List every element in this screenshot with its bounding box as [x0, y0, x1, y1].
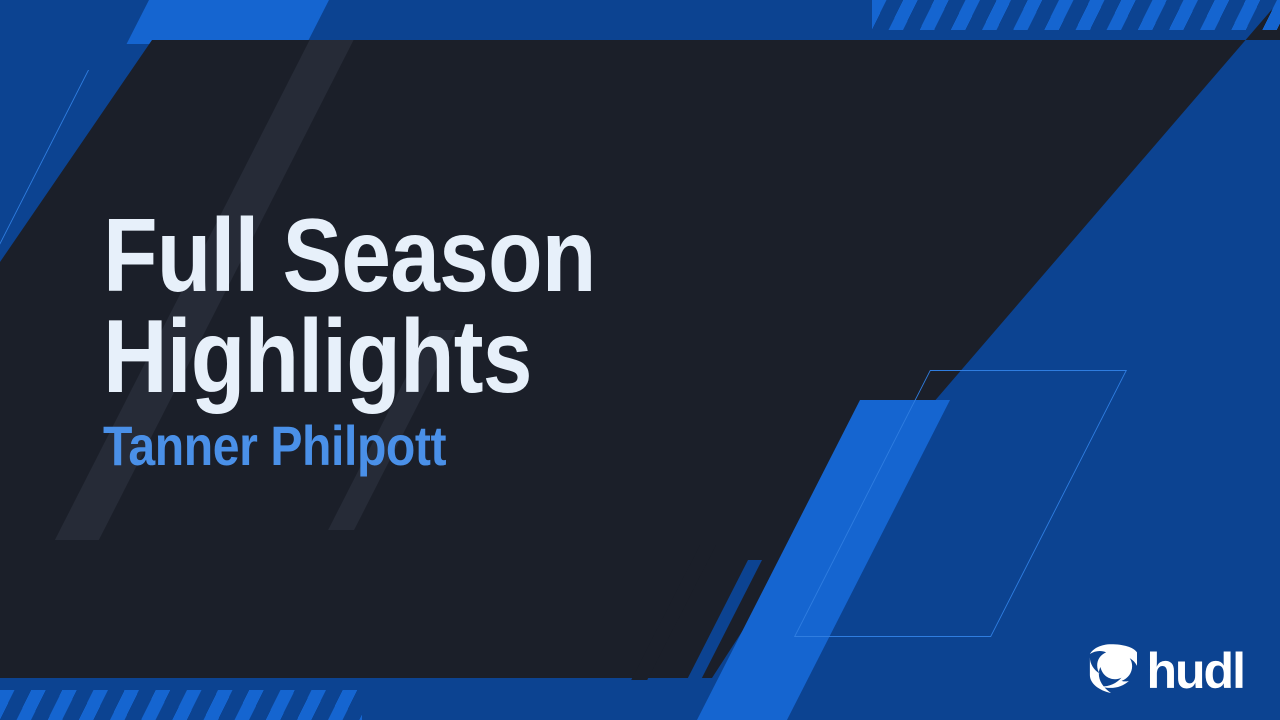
stripe-band-bottom-left	[0, 690, 362, 720]
stripe-band-top-right	[872, 0, 1280, 30]
hudl-triskelion-icon	[1085, 641, 1137, 698]
accent-parallelogram-top-left	[127, 0, 330, 44]
title-text-block: Full Season Highlights Tanner Philpott	[103, 206, 676, 474]
title-line-2: Highlights	[103, 307, 596, 408]
hudl-wordmark: hudl	[1146, 646, 1244, 696]
highlight-title-card: Full Season Highlights Tanner Philpott h…	[0, 0, 1280, 720]
hudl-logo: hudl	[1085, 641, 1244, 698]
title-line-1: Full Season	[103, 206, 596, 307]
athlete-name: Tanner Philpott	[103, 418, 596, 474]
